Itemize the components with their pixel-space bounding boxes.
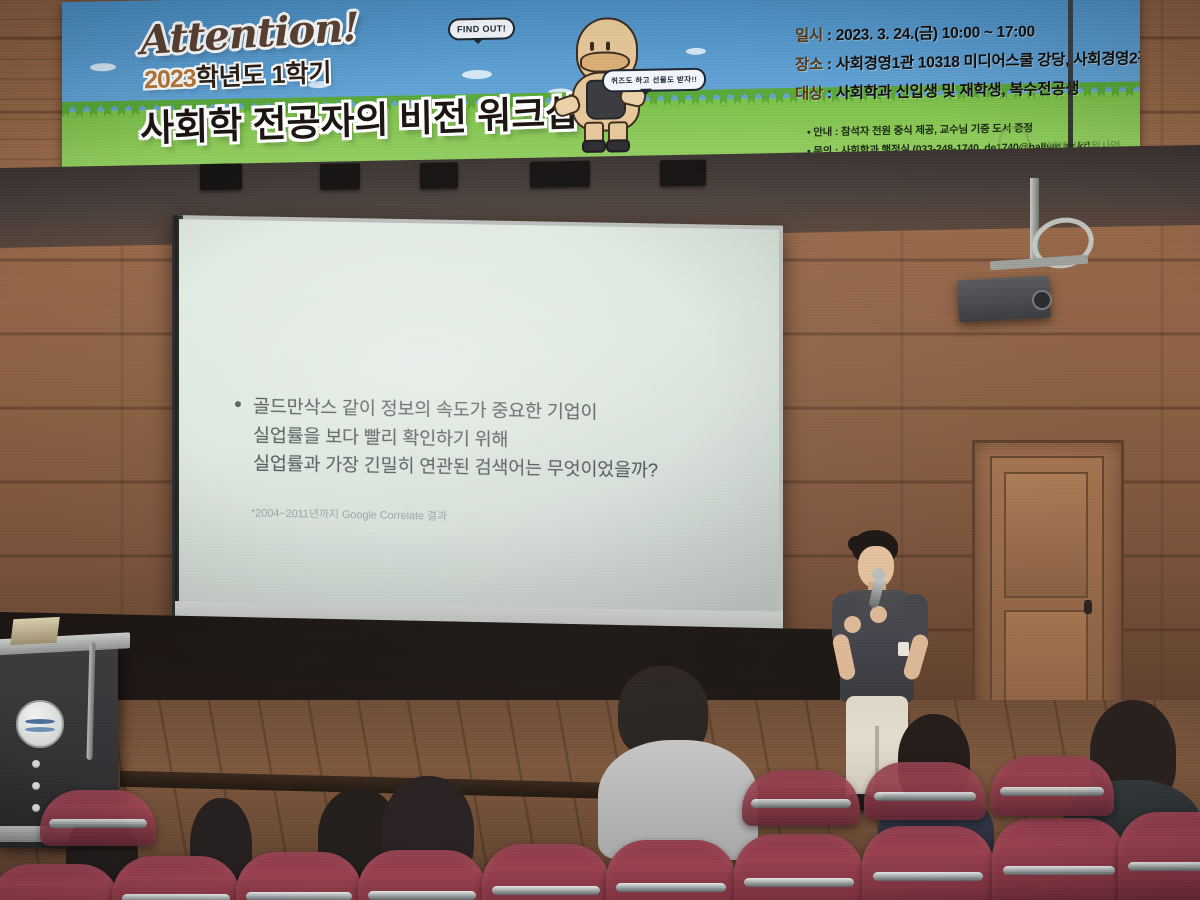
banner-year: 2023 (144, 64, 196, 94)
theater-seat[interactable] (1118, 812, 1200, 900)
bullet-icon (235, 401, 241, 407)
banner-semester: 학년도 1학기 (195, 59, 331, 92)
banner-info-value: 사회학과 신입생 및 재학생, 복수전공생 (836, 80, 1079, 102)
seating-rows (0, 760, 1200, 900)
ceiling-mount-bracket (420, 162, 458, 189)
ceiling-mount-bracket (530, 161, 590, 188)
ceiling-mount-bracket (200, 163, 242, 190)
theater-seat[interactable] (236, 852, 362, 900)
slide-content: 골드만삭스 같이 정보의 속도가 중요한 기업이 실업률을 보다 빨리 확인하기… (235, 392, 761, 529)
theater-seat[interactable] (0, 864, 120, 900)
theater-seat[interactable] (862, 826, 994, 900)
banner-info-label: 장소 (795, 56, 823, 74)
screen-surface: 골드만삭스 같이 정보의 속도가 중요한 기업이 실업률을 보다 빨리 확인하기… (179, 219, 779, 611)
presenter-badge (898, 642, 909, 656)
speech-bubble-quiz: 퀴즈도 하고 선물도 받자!! (602, 68, 706, 93)
banner-info-label: 대상 (795, 85, 823, 103)
banner-info-label: 일시 (795, 27, 823, 45)
theater-seat[interactable] (864, 762, 986, 820)
theater-seat[interactable] (112, 856, 240, 900)
theater-seat[interactable] (992, 818, 1126, 900)
presenter-hand (844, 616, 861, 633)
theater-seat[interactable] (990, 756, 1114, 816)
ceiling-mount-bracket (660, 159, 706, 186)
banner-info-row: 장소 : 사회경영1관 10318 미디어스쿨 강당, 사회경영2관 3501호… (795, 45, 1140, 75)
ceiling-mount-bracket (320, 163, 360, 190)
university-emblem-icon (16, 700, 64, 748)
banner-info-value: 사회경영1관 10318 미디어스쿨 강당, 사회경영2관 3501호실 (836, 49, 1140, 73)
lecture-hall-photo: Attention! 2023학년도 1학기 사회학 전공자의 비전 워크샵 F… (0, 0, 1200, 900)
theater-seat[interactable] (734, 834, 864, 900)
slide-text-block: 골드만삭스 같이 정보의 속도가 중요한 기업이 실업률을 보다 빨리 확인하기… (253, 392, 761, 487)
podium-papers (10, 617, 60, 645)
banner-seam (1068, 0, 1073, 159)
theater-seat[interactable] (358, 850, 486, 900)
theater-seat[interactable] (40, 790, 156, 846)
theater-seat[interactable] (742, 770, 860, 826)
banner-info-row: 대상 : 사회학과 신입생 및 재학생, 복수전공생 (795, 74, 1140, 104)
door-handle-icon[interactable] (1084, 600, 1092, 614)
banner-info-value: 2023. 3. 24.(금) 10:00 ~ 17:00 (836, 23, 1035, 44)
speech-bubble-find-out: FIND OUT! (448, 17, 515, 40)
slide-footnote: *2004~2011년까지 Google Correlate 결과 (251, 504, 761, 529)
microphone-head-icon (872, 568, 885, 581)
projection-screen: 골드만삭스 같이 정보의 속도가 중요한 기업이 실업률을 보다 빨리 확인하기… (172, 215, 783, 646)
door-panel-upper (1004, 472, 1088, 598)
theater-seat[interactable] (482, 844, 610, 900)
theater-seat[interactable] (606, 840, 736, 900)
banner-year-line: 2023학년도 1학기 (144, 53, 332, 97)
banner-info-block: 일시 : 2023. 3. 24.(금) 10:00 ~ 17:00 장소 : … (795, 16, 1140, 111)
podium-mic-stand (86, 642, 95, 760)
projector-lens-icon (1032, 290, 1052, 310)
presenter-hand (870, 606, 887, 623)
